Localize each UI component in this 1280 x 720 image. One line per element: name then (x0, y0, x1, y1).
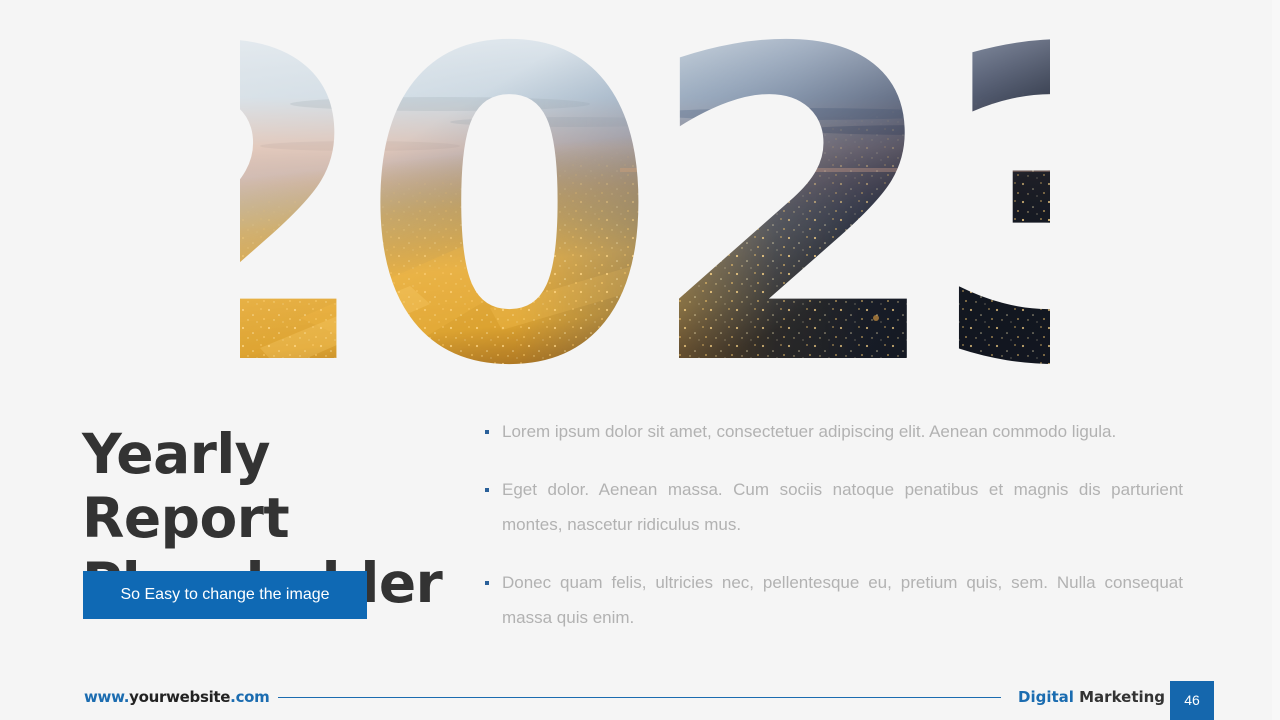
bullet-icon (485, 488, 489, 492)
footer-brand-second: Marketing (1074, 688, 1165, 706)
footer-website-prefix: www. (84, 688, 129, 706)
bullet-list: Lorem ipsum dolor sit amet, consectetuer… (483, 414, 1183, 635)
footer-website-tld: .com (230, 688, 269, 706)
list-item-text: Lorem ipsum dolor sit amet, consectetuer… (502, 422, 1116, 441)
footer-website-name: yourwebsite (129, 688, 230, 706)
list-item-text: Eget dolor. Aenean massa. Cum sociis nat… (502, 480, 1183, 534)
page-number-badge: 46 (1170, 681, 1214, 720)
change-image-button[interactable]: So Easy to change the image (83, 571, 367, 619)
footer-website-link[interactable]: www.yourwebsite.com (84, 688, 270, 706)
footer-brand: Digital Marketing (1018, 688, 1165, 706)
list-item: Donec quam felis, ultricies nec, pellent… (483, 565, 1183, 635)
list-item: Eget dolor. Aenean massa. Cum sociis nat… (483, 472, 1183, 542)
list-item-text: Donec quam felis, ultricies nec, pellent… (502, 573, 1183, 627)
footer-brand-first: Digital (1018, 688, 1074, 706)
bullet-icon (485, 430, 489, 434)
list-item: Lorem ipsum dolor sit amet, consectetuer… (483, 414, 1183, 449)
footer-divider (278, 697, 1001, 698)
bullet-icon (485, 581, 489, 585)
hero-year-graphic: 2023 (240, 18, 1050, 378)
slide: 2023 (0, 0, 1280, 720)
page-title-line-1: Yearly Report (82, 422, 482, 551)
